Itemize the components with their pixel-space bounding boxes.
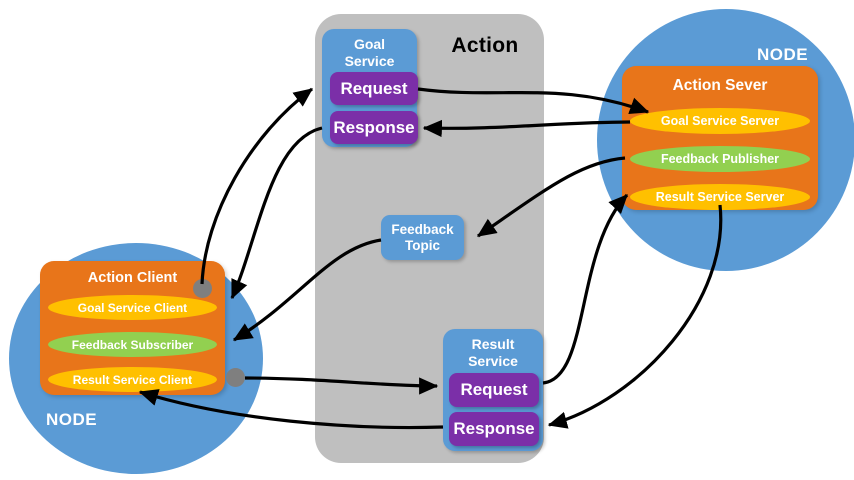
goal-service-title-line1: Goal (354, 36, 385, 52)
client-node-label: NODE (46, 410, 97, 430)
feedback-topic-box[interactable]: Feedback Topic (381, 215, 464, 260)
result-service-client-pill[interactable]: Result Service Client (48, 367, 217, 392)
goal-service-client-pill[interactable]: Goal Service Client (48, 295, 217, 320)
result-service-card[interactable]: Result Service Request Response (443, 329, 543, 451)
action-server-title: Action Sever (622, 66, 818, 95)
arrow-goal-client-to-request (202, 89, 312, 284)
action-title: Action (420, 34, 550, 58)
result-client-connector-dot (226, 368, 245, 387)
diagram-canvas: Action Goal Service Request Response Fee… (0, 0, 854, 480)
goal-service-title: Goal Service (322, 29, 417, 70)
goal-service-title-line2: Service (345, 53, 395, 69)
feedback-topic-title-line2: Topic (405, 238, 440, 254)
goal-service-response-box[interactable]: Response (330, 111, 418, 144)
result-service-title-line1: Result (472, 336, 515, 352)
result-service-title: Result Service (443, 329, 543, 370)
goal-client-connector-dot (193, 279, 212, 298)
action-server-box[interactable]: Action Sever Goal Service Server Feedbac… (622, 66, 818, 210)
goal-service-server-pill[interactable]: Goal Service Server (630, 108, 810, 134)
goal-service-request-box[interactable]: Request (330, 72, 418, 105)
server-node-label: NODE (757, 45, 808, 65)
feedback-subscriber-pill[interactable]: Feedback Subscriber (48, 332, 217, 357)
result-service-response-box[interactable]: Response (449, 412, 539, 446)
goal-service-card[interactable]: Goal Service Request Response (322, 29, 417, 147)
arrow-result-request-to-server (543, 195, 627, 383)
feedback-publisher-pill[interactable]: Feedback Publisher (630, 146, 810, 172)
result-service-request-box[interactable]: Request (449, 373, 539, 407)
result-service-title-line2: Service (468, 353, 518, 369)
feedback-topic-title-line1: Feedback (391, 222, 453, 238)
arrow-goal-response-to-client (232, 128, 322, 298)
result-service-server-pill[interactable]: Result Service Server (630, 184, 810, 210)
